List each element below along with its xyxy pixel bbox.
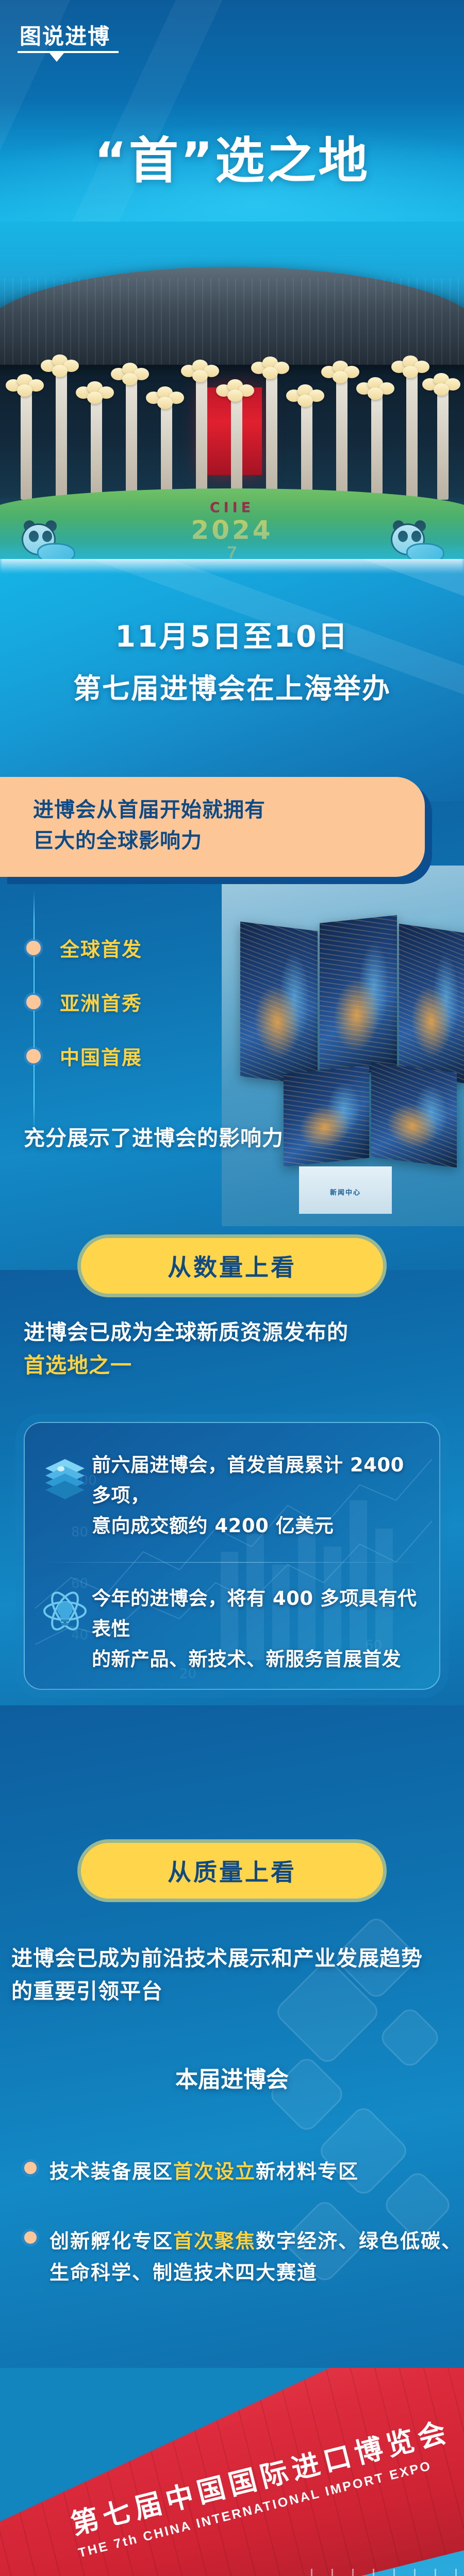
atom-bulb-icon — [40, 1586, 90, 1636]
quality-lead: 进博会已成为前沿技术展示和产业发展趋势 的重要引领平台 — [11, 1942, 455, 2008]
influence-bullet-2: 中国首展 — [25, 1042, 142, 1070]
lawn-ciie-text: CIIE — [210, 500, 254, 516]
influence-bullet-label-1: 亚洲首秀 — [60, 988, 142, 1016]
quality-bullet-1-prefix: 创新孵化专区 — [49, 2230, 173, 2252]
bullet-dot-icon — [23, 2160, 38, 2176]
stacked-layers-icon — [40, 1453, 90, 1502]
quality-lead-line2: 的重要引领平台 — [11, 1975, 455, 2008]
stat-item-1-text: 今年的进博会，将有 400 多项具有代表性 的新产品、新技术、新服务首展首发 — [92, 1583, 424, 1675]
influence-headline-line2: 巨大的全球影响力 — [0, 825, 425, 856]
topic-tag-label: 图说进博 — [18, 25, 119, 51]
quality-bullet-0-prefix: 技术装备展区 — [49, 2160, 173, 2183]
topic-tag: 图说进博 — [18, 25, 119, 62]
media-center-screens-photo: 新闻中心 — [222, 866, 464, 1226]
expo-center-night-photo: CIIE 2024 7 — [0, 222, 464, 582]
influence-headline-card: 进博会从首届开始就拥有 巨大的全球影响力 — [0, 777, 425, 877]
quality-subhead: 本届进博会 — [0, 2061, 464, 2094]
influence-headline-line1: 进博会从首届开始就拥有 — [0, 794, 425, 825]
influence-bullet-0: 全球首发 — [25, 934, 142, 962]
quantity-badge: 从数量上看 — [77, 1234, 387, 1297]
stat-item-0-line1: 前六届进博会，首发首展累计 2400 多项， — [92, 1450, 424, 1511]
stat-item-0-text: 前六届进博会，首发首展累计 2400 多项， 意向成交额约 4200 亿美元 — [92, 1450, 424, 1541]
bullet-dot-icon — [25, 993, 42, 1011]
stat-item-0: 前六届进博会，首发首展累计 2400 多项， 意向成交额约 4200 亿美元 — [25, 1440, 439, 1541]
stat-item-0-line2: 意向成交额约 4200 亿美元 — [92, 1511, 424, 1541]
page-title: “首”选之地 — [0, 136, 464, 185]
influence-bullet-label-2: 中国首展 — [60, 1042, 142, 1070]
media-center-caption: 新闻中心 — [299, 1187, 392, 1197]
event-date-band: 11月5日至10日 第七届进博会在上海举办 — [0, 559, 464, 801]
expo-red-banner-photo: 第七届中国国际进口博览会 THE 7th CHINA INTERNATIONAL… — [0, 2368, 464, 2576]
lawn-year-text: 2024 — [191, 515, 273, 545]
influence-bullet-label-0: 全球首发 — [60, 934, 142, 962]
bullet-dot-icon — [25, 939, 42, 957]
infographic-page: 图说进博 “首”选之地 C — [0, 0, 464, 2576]
stat-item-1: 今年的进博会，将有 400 多项具有代表性 的新产品、新技术、新服务首展首发 — [25, 1583, 439, 1675]
quantity-stats-card: 10080 6040 204060 前 — [24, 1422, 440, 1690]
bullet-dot-icon — [25, 1047, 42, 1065]
quality-lead-line1: 进博会已成为前沿技术展示和产业发展趋势 — [11, 1942, 455, 1975]
quality-badge: 从质量上看 — [77, 1839, 387, 1902]
quality-bullet-0-highlight: 首次设立 — [173, 2160, 256, 2183]
national-flags-row — [237, 2528, 464, 2576]
influence-bullet-1: 亚洲首秀 — [25, 988, 142, 1016]
quantity-lead: 进博会已成为全球新质资源发布的 首选地之一 — [24, 1316, 436, 1382]
stat-item-1-line2: 的新产品、新技术、新服务首展首发 — [92, 1644, 424, 1674]
quantity-lead-yellow: 首选地之一 — [24, 1349, 436, 1382]
quality-bullet-1: 创新孵化专区首次聚焦数字经济、绿色低碳、 生命科学、制造技术四大赛道 — [23, 2226, 462, 2289]
quality-bullet-1-highlight: 首次聚焦 — [173, 2230, 256, 2252]
event-date-line: 11月5日至10日 — [0, 613, 464, 655]
quality-bullet-0-suffix: 新材料专区 — [256, 2160, 359, 2183]
topic-tag-pointer-icon — [49, 53, 64, 62]
quality-bullet-0: 技术装备展区首次设立新材料专区 — [23, 2156, 359, 2188]
stat-divider — [39, 1562, 425, 1563]
event-subtitle-line: 第七届进博会在上海举办 — [0, 666, 464, 706]
topic-tag-underline — [18, 51, 119, 53]
quantity-lead-white: 进博会已成为全球新质资源发布的 — [24, 1316, 436, 1349]
stat-item-1-line1: 今年的进博会，将有 400 多项具有代表性 — [92, 1583, 424, 1644]
quality-bullet-1-suffix: 数字经济、绿色低碳、 — [256, 2230, 462, 2252]
influence-conclusion: 充分展示了进博会的影响力 — [24, 1122, 284, 1155]
quality-bullet-1-line2: 生命科学、制造技术四大赛道 — [49, 2257, 462, 2289]
bullet-dot-icon — [23, 2230, 38, 2245]
